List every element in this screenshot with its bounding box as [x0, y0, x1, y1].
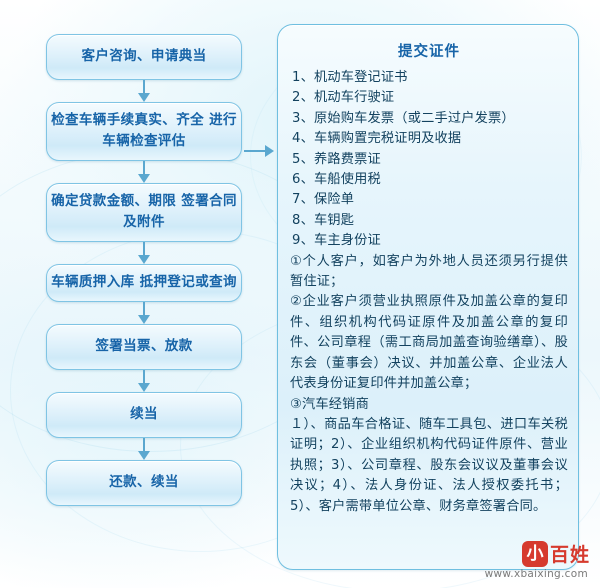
document-note-enterprise: ②企业客户须营业执照原件及加盖公章的复印件、组织机构代码证原件及加盖公章的复印件… — [290, 292, 568, 394]
document-item: 9、车主身份证 — [290, 231, 568, 251]
arrow-head-icon — [138, 93, 150, 102]
process-flow-column: 客户咨询、申请典当 检查车辆手续真实、齐全 进行车辆检查评估 确定贷款金额、期限… — [46, 34, 246, 506]
document-note-dealer: １）、商品车合格证、随车工具包、进口车关税证明；2）、企业组织机构代码证件原件、… — [290, 415, 568, 517]
flow-node-1: 客户咨询、申请典当 — [46, 34, 242, 80]
flow-node-6: 续当 — [46, 392, 242, 438]
flow-arrow-to-panel — [244, 144, 278, 158]
diagram-canvas: 客户咨询、申请典当 检查车辆手续真实、齐全 进行车辆检查评估 确定贷款金额、期限… — [0, 0, 600, 588]
flow-node-2: 检查车辆手续真实、齐全 进行车辆检查评估 — [46, 102, 242, 161]
flow-arrow-4 — [46, 302, 242, 324]
document-item: 3、原始购车发票（或二手过户发票） — [290, 109, 568, 129]
flow-node-7: 还款、续当 — [46, 460, 242, 506]
arrow-head-icon — [138, 255, 150, 264]
panel-body: 1、机动车登记证书 2、机动车行驶证 3、原始购车发票（或二手过户发票） 4、车… — [290, 68, 568, 517]
panel-title: 提交证件 — [290, 40, 568, 61]
flow-node-label: 续当 — [130, 406, 158, 422]
arrow-head-icon — [265, 145, 274, 157]
flow-node-5: 签署当票、放款 — [46, 324, 242, 370]
flow-arrow-1 — [46, 80, 242, 102]
flow-node-label: 检查车辆手续真实、齐全 进行车辆检查评估 — [51, 112, 237, 149]
document-item: 5、养路费票证 — [290, 150, 568, 170]
document-note-dealer-heading: ③汽车经销商 — [290, 395, 568, 415]
arrow-head-icon — [138, 383, 150, 392]
flow-node-3: 确定贷款金额、期限 签署合同及附件 — [46, 183, 242, 242]
arrow-stem — [143, 302, 145, 316]
document-item: 8、车钥匙 — [290, 211, 568, 231]
flow-node-4: 车辆质押入库 抵押登记或查询 — [46, 264, 242, 302]
documents-panel: 提交证件 1、机动车登记证书 2、机动车行驶证 3、原始购车发票（或二手过户发票… — [277, 24, 579, 570]
arrow-head-icon — [138, 315, 150, 324]
document-note-personal: ①个人客户，如客户为外地人员还须另行提供暂住证； — [290, 252, 568, 293]
flow-node-label: 签署当票、放款 — [95, 338, 192, 354]
flow-node-label: 客户咨询、申请典当 — [81, 48, 206, 64]
document-item: 7、保险单 — [290, 190, 568, 210]
flow-arrow-6 — [46, 438, 242, 460]
arrow-stem — [143, 80, 145, 94]
arrow-stem — [244, 150, 266, 152]
document-item: 6、车船使用税 — [290, 170, 568, 190]
document-item: 2、机动车行驶证 — [290, 88, 568, 108]
document-item: 4、车辆购置完税证明及收据 — [290, 129, 568, 149]
flow-node-label: 确定贷款金额、期限 签署合同及附件 — [51, 193, 237, 230]
arrow-stem — [143, 370, 145, 384]
arrow-head-icon — [138, 451, 150, 460]
flow-arrow-5 — [46, 370, 242, 392]
document-item: 1、机动车登记证书 — [290, 68, 568, 88]
flow-node-label: 还款、续当 — [109, 474, 179, 490]
flow-arrow-2 — [46, 161, 242, 183]
arrow-head-icon — [138, 174, 150, 183]
arrow-stem — [143, 161, 145, 175]
flow-arrow-3 — [46, 242, 242, 264]
arrow-stem — [143, 438, 145, 452]
arrow-stem — [143, 242, 145, 256]
flow-node-label: 车辆质押入库 抵押登记或查询 — [51, 274, 237, 290]
